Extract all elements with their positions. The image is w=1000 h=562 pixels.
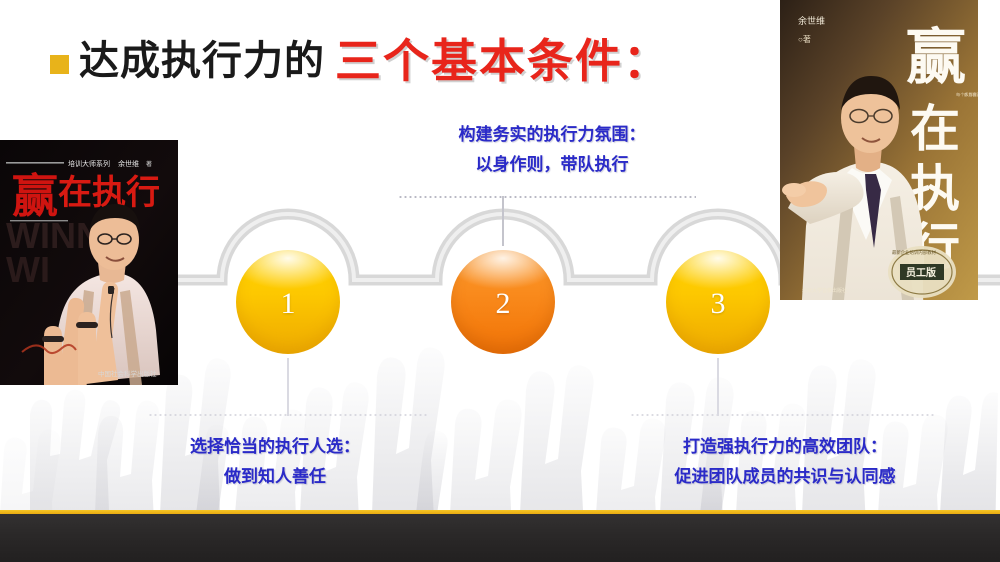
connector-dotted-line-bottom-right: [630, 414, 935, 416]
slide-canvas: 1 2 3 构建务实的执行力氛围： 以身作则，带队执行 选择恰当的执行人选： 做…: [0, 0, 1000, 562]
svg-text:在: 在: [910, 101, 960, 157]
step-node-3-number: 3: [711, 287, 726, 321]
svg-text:著: 著: [146, 160, 152, 168]
svg-text:中国社会科学出版社: 中国社会科学出版社: [98, 369, 157, 378]
callout-step-3: 打造强执行力的高效团队： 促进团队成员的共识与认同感: [620, 432, 950, 492]
svg-text:赢: 赢: [12, 170, 58, 222]
square-bullet-icon: [50, 55, 69, 74]
svg-text:最新企业培训内部教材: 最新企业培训内部教材: [892, 249, 937, 256]
step-node-3[interactable]: 3: [666, 250, 770, 354]
book-cover-left: 培训大师系列 余世维 著 WINN WI 赢 在执行: [0, 140, 178, 385]
callout-step-1-line1: 选择恰当的执行人选：: [130, 432, 420, 462]
step-node-1-number: 1: [281, 287, 296, 321]
svg-text:WI: WI: [6, 249, 50, 290]
page-title-red: 三个基本条件：: [335, 38, 671, 84]
svg-text:北京大学音像出版社: 北京大学音像出版社: [802, 287, 847, 294]
step-node-2-number: 2: [496, 287, 511, 321]
connector-stem-bottom-left: [287, 358, 289, 416]
svg-text:培训大师系列: 培训大师系列: [68, 159, 110, 168]
page-title: 达成执行力的 三个基本条件：: [50, 38, 671, 84]
svg-text:都为自己的职业: 都为自己的职业: [964, 91, 978, 98]
step-node-2[interactable]: 2: [451, 250, 555, 354]
svg-text:余世维: 余世维: [118, 159, 139, 168]
callout-step-1-line2: 做到知人善任: [130, 462, 420, 492]
svg-text:余世维: 余世维: [798, 15, 825, 26]
callout-step-2-line1: 构建务实的执行力氛围：: [412, 120, 692, 150]
step-node-1[interactable]: 1: [236, 250, 340, 354]
connector-dotted-line-top: [398, 196, 696, 198]
page-title-black: 达成执行力的: [79, 41, 325, 81]
book-cover-right: 余世维 ○著 赢 在 执 行 每个人都需要，人人 都为自己的职业: [780, 0, 978, 300]
callout-step-2-line2: 以身作则，带队执行: [412, 150, 692, 180]
callout-step-2: 构建务实的执行力氛围： 以身作则，带队执行: [412, 120, 692, 180]
callout-step-3-line2: 促进团队成员的共识与认同感: [620, 462, 950, 492]
callout-step-3-line1: 打造强执行力的高效团队：: [620, 432, 950, 462]
callout-step-1: 选择恰当的执行人选： 做到知人善任: [130, 432, 420, 492]
svg-text:○著: ○著: [798, 34, 811, 44]
footer-bar: [0, 514, 1000, 562]
connector-stem-top: [502, 196, 504, 246]
connector-stem-bottom-right: [717, 358, 719, 416]
svg-text:员工版: 员工版: [906, 266, 936, 279]
svg-text:赢: 赢: [906, 25, 966, 91]
